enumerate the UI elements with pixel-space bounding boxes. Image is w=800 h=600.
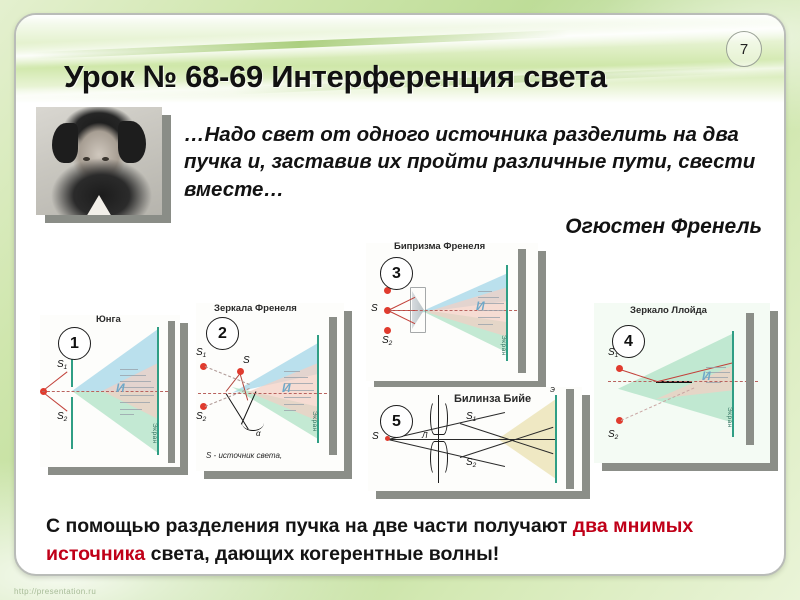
diagram-2-construction-line-2 [205,388,250,407]
diagram-1-label-interference: И [116,381,125,395]
diagram-3-screen-bar [518,249,526,373]
diagram-1-label-s2: S2 [57,411,67,423]
diagram-4-number-badge: 4 [612,325,645,358]
diagram-3-label-s2: S2 [382,335,392,347]
diagram-4-title: Зеркало Ллойда [630,305,707,316]
page-title: Урок № 68-69 Интерференция света [64,59,607,95]
diagram-3-label-interference: И [476,299,485,313]
diagram-2-source-dot [237,368,244,375]
diagram-5-ray-axis [388,439,556,440]
bottom-caption: С помощью разделения пучка на две части … [46,513,758,568]
diagram-4-lloyd-mirror[interactable]: S1 S2 И Экран 4 Зеркало Ллойда [594,303,770,463]
portrait-eye-right [102,157,109,161]
diagram-3-fresnel-biprism[interactable]: S S1 S2 И Экран 3 Бипризма Френеля [366,243,538,381]
diagram-1-number-badge: 1 [58,327,91,360]
slide: http://presentation.ru Урок № 68-69 Инте… [0,0,800,600]
diagram-5-label-source: S [372,431,379,442]
diagram-4-screen-bar [746,313,754,445]
diagram-3-virtual-source-2 [384,327,391,334]
portrait-image [36,107,162,215]
diagram-1-fringes [120,367,154,417]
diagram-4-optical-axis [608,381,758,382]
diagram-5-number-badge: 5 [380,405,413,438]
portrait-fresnel [36,107,162,215]
diagram-1-label-s1: S1 [57,359,67,371]
diagram-4-label-interference: И [702,369,711,383]
diagram-1-label-screen: Экран [151,423,158,444]
diagram-5-title: Билинза Бийе [454,393,531,405]
portrait-hair-left [52,123,78,163]
caption-part-2: света, дающих когерентные волны! [145,543,499,565]
diagram-5-billet-lens[interactable]: S Л S1 S2 Э 5 Билинза Бийе [368,387,582,491]
diagram-2-screen-bar [329,317,337,455]
portrait-eye-left [83,157,90,161]
diagram-5-label-s2: S2 [466,457,476,469]
diagram-4-source-dot-s1 [616,365,623,372]
watermark: http://presentation.ru [14,587,96,596]
quote-text: …Надо свет от одного источника разделить… [184,121,786,203]
diagram-2-caption: S - источник света, [206,451,282,460]
diagram-3-label-screen: Экран [500,335,507,356]
diagram-2-label-s2: S2 [196,411,206,423]
diagram-3-label-source: S [371,303,378,314]
diagram-2-label-angle: α [256,429,261,438]
diagram-2-label-interference: И [282,381,291,395]
page-number-badge: 7 [726,31,762,67]
diagram-1-young[interactable]: S1 S2 И Экран 1 Юнга [40,315,180,467]
diagram-5-label-screen: Э [550,387,555,394]
diagram-2-label-s1: S1 [196,347,206,359]
slide-card: Урок № 68-69 Интерференция света 7 …Надо… [14,13,786,576]
diagram-2-number-badge: 2 [206,317,239,350]
diagram-5-screen [555,395,557,483]
caption-part-1: С помощью разделения пучка на две части … [46,515,573,537]
diagram-3-number-badge: 3 [380,257,413,290]
diagram-2-fresnel-mirrors[interactable]: S S1 S2 α И Экран S - источник света, 2 … [196,303,344,471]
diagram-1-title: Юнга [96,314,121,325]
quote-attribution: Огюстен Френель [565,215,762,239]
diagram-4-label-s2: S2 [608,429,618,441]
diagram-5-screen-bar [566,389,574,489]
diagram-1-slit-plate-lower [71,397,73,449]
diagram-4-label-screen: Экран [726,407,733,428]
portrait-collar [86,195,112,215]
portrait-hair-right [118,121,146,163]
diagram-2-label-screen: Экран [311,411,318,432]
diagram-2-label-source: S [243,355,250,366]
diagram-2-title: Зеркала Френеля [214,303,297,314]
diagram-1-screen-bar [168,321,175,463]
diagram-5-label-s1: S1 [466,411,476,423]
diagram-5-label-lens: Л [422,431,427,440]
diagram-3-title: Бипризма Френеля [394,241,485,252]
